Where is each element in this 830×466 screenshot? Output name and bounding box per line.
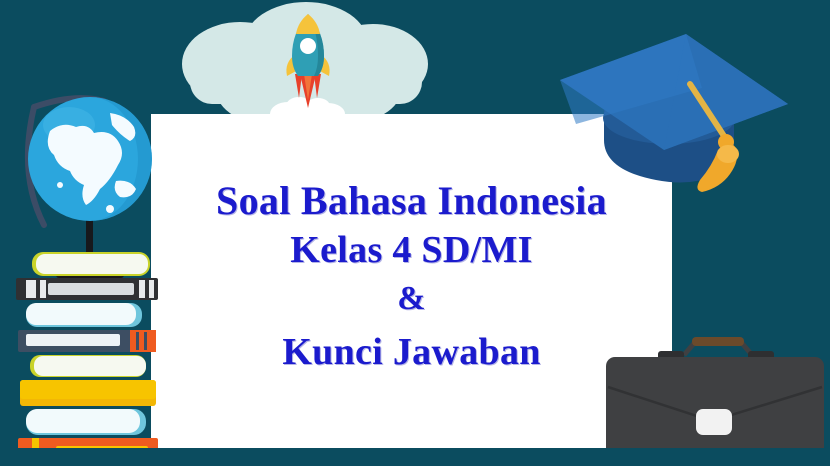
page-title: Soal Bahasa Indonesia bbox=[151, 178, 672, 224]
list-item bbox=[16, 278, 158, 300]
list-item bbox=[32, 252, 150, 276]
bottom-accent-strip bbox=[0, 448, 830, 466]
poster-canvas: Soal Bahasa Indonesia Kelas 4 SD/MI & Ku… bbox=[0, 0, 830, 466]
title-subline-answerkey: Kunci Jawaban bbox=[151, 322, 672, 382]
list-item bbox=[26, 409, 146, 435]
list-item bbox=[18, 330, 156, 352]
briefcase-clasp-icon bbox=[696, 409, 732, 435]
list-item bbox=[26, 303, 142, 327]
title-ampersand: & bbox=[151, 276, 672, 322]
poster-title-block: Soal Bahasa Indonesia Kelas 4 SD/MI & Ku… bbox=[151, 178, 672, 382]
title-subline-class: Kelas 4 SD/MI bbox=[151, 224, 672, 276]
list-item bbox=[20, 380, 156, 406]
briefcase-handle-icon bbox=[692, 337, 744, 346]
list-item bbox=[30, 355, 146, 377]
